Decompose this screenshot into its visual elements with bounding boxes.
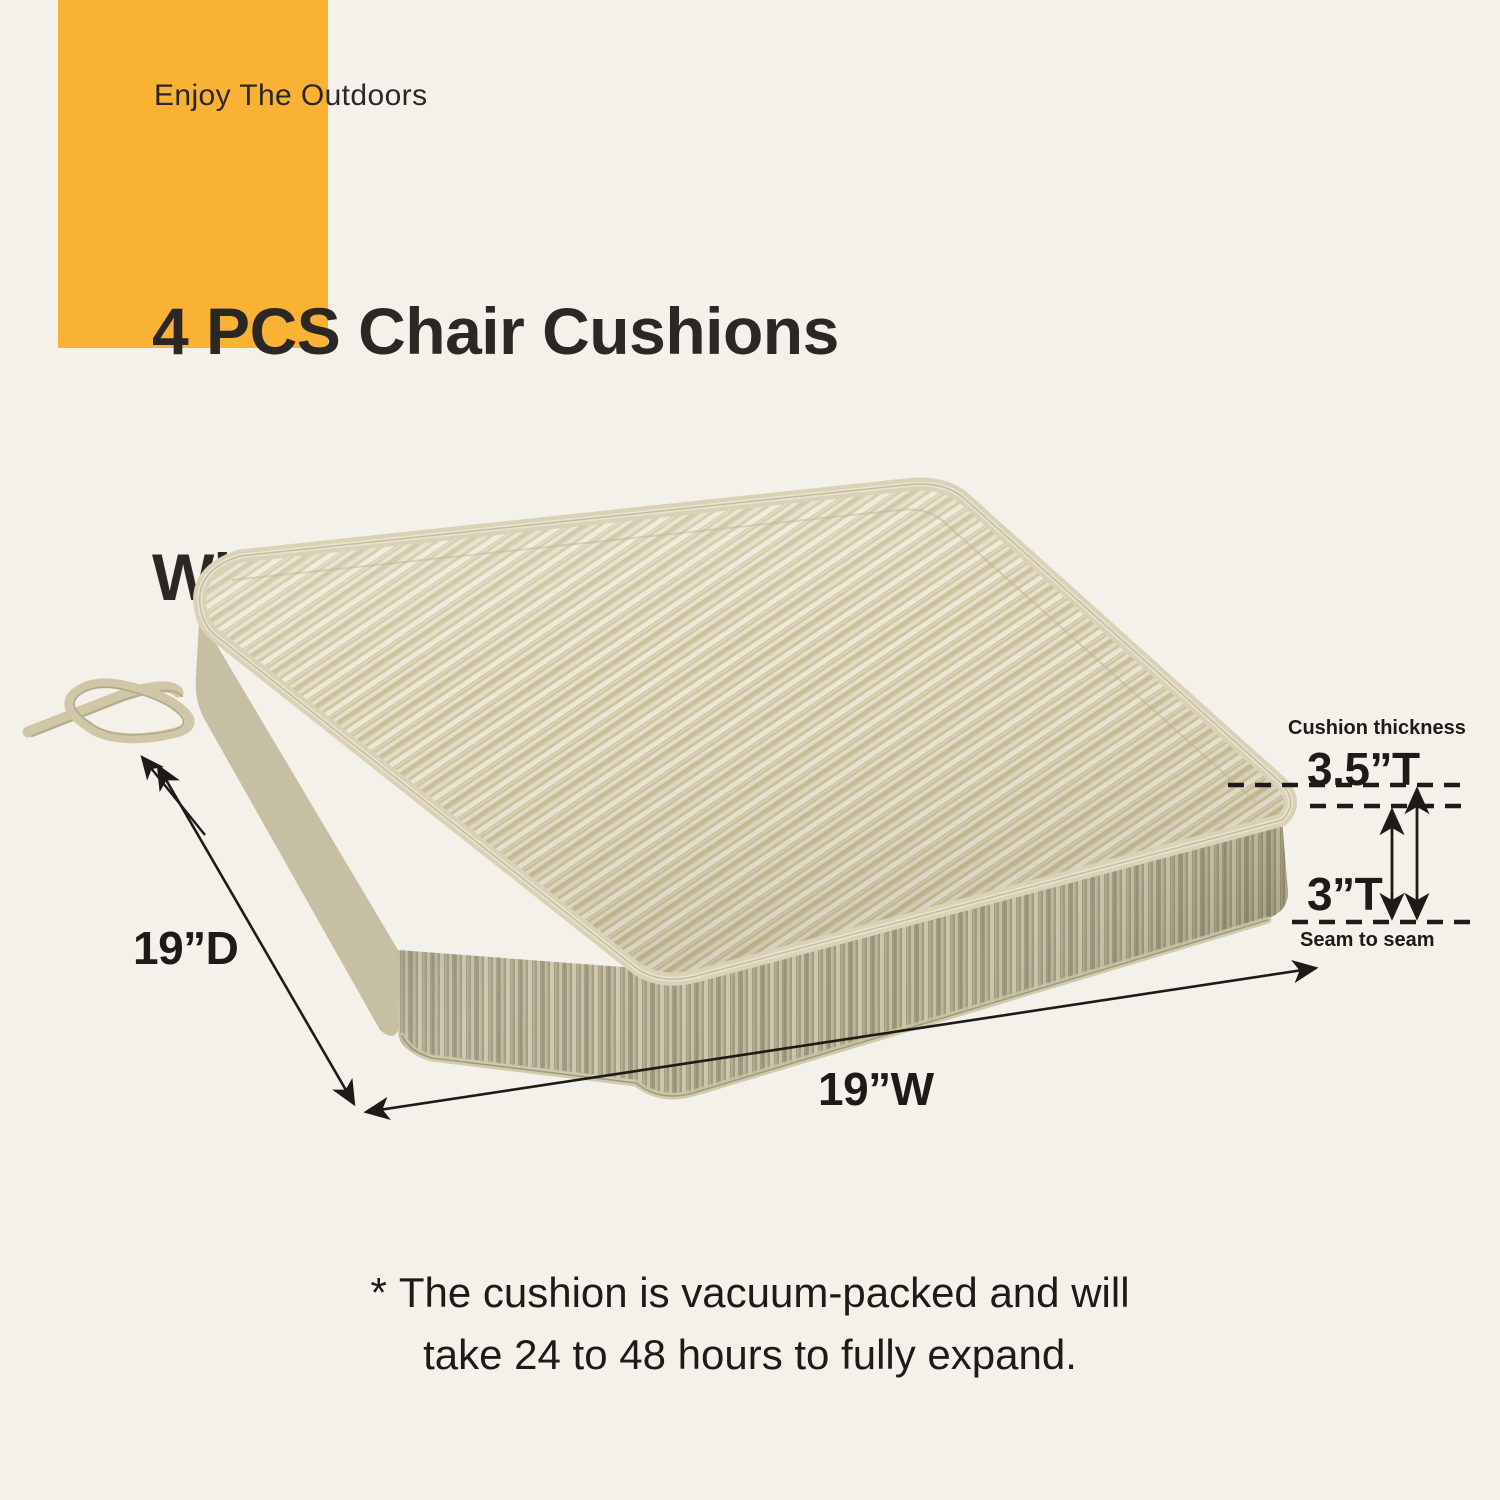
depth-label: 19”D — [133, 921, 238, 975]
footnote: *The cushion is vacuum-packed and will t… — [0, 1262, 1500, 1386]
footnote-line-1: *The cushion is vacuum-packed and will — [0, 1262, 1500, 1324]
cushion-illustration — [0, 430, 1400, 1130]
thickness-seam-label: 3”T — [1307, 867, 1382, 921]
width-label: 19”W — [818, 1062, 934, 1116]
tie-strap-icon — [28, 683, 190, 738]
thickness-total-label: 3.5”T — [1307, 742, 1420, 796]
footnote-line-2: take 24 to 48 hours to fully expand. — [0, 1324, 1500, 1386]
seam-to-seam-caption: Seam to seam — [1300, 929, 1435, 952]
infographic-canvas: Enjoy The Outdoors 4 PCS Chair Cushions … — [0, 0, 1500, 1500]
cushion-thickness-caption: Cushion thickness — [1288, 717, 1466, 740]
eyebrow-text: Enjoy The Outdoors — [154, 76, 427, 116]
product-image — [0, 430, 1400, 1130]
asterisk-icon: * — [370, 1269, 398, 1316]
headline-line-1: 4 PCS Chair Cushions — [152, 290, 839, 372]
footnote-text-1: The cushion is vacuum-packed and will — [399, 1269, 1130, 1316]
